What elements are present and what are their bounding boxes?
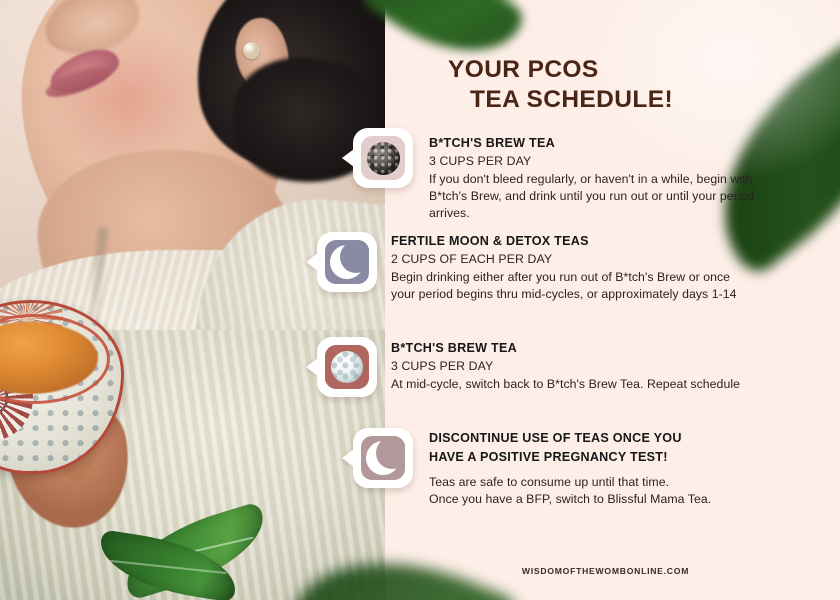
full-moon-icon <box>367 142 400 175</box>
step-heading-line-2: HAVE A POSITIVE PREGNANCY TEST! <box>429 449 779 465</box>
badge-inner <box>361 136 405 180</box>
step-body-secondary: Once you have a BFP, switch to Blissful … <box>429 491 779 508</box>
badge-inner <box>325 345 369 389</box>
badge-pointer-icon <box>306 253 318 271</box>
schedule-step: FERTILE MOON & DETOX TEAS 2 CUPS OF EACH… <box>391 233 751 303</box>
step-heading: B*TCH'S BREW TEA <box>429 135 781 151</box>
page-title: YOUR PCOS TEA SCHEDULE! <box>448 55 788 114</box>
badge-inner <box>361 436 405 480</box>
step-body: If you don't bleed regularly, or haven't… <box>429 171 781 222</box>
step-body: Teas are safe to consume up until that t… <box>429 474 779 491</box>
crescent-moon-icon <box>330 245 364 279</box>
pale-moon-icon <box>331 351 363 383</box>
step-badge[interactable] <box>353 128 413 188</box>
badge-inner <box>325 240 369 284</box>
step-dosage: 2 CUPS OF EACH PER DAY <box>391 252 751 268</box>
step-badge[interactable] <box>353 428 413 488</box>
hero-photo <box>0 0 385 600</box>
badge-pointer-icon <box>306 358 318 376</box>
schedule-step: B*TCH'S BREW TEA 3 CUPS PER DAY If you d… <box>429 135 781 222</box>
step-heading: B*TCH'S BREW TEA <box>391 340 743 356</box>
schedule-step: B*TCH'S BREW TEA 3 CUPS PER DAY At mid-c… <box>391 340 743 393</box>
crescent-moon-icon <box>366 441 400 475</box>
content-panel: YOUR PCOS TEA SCHEDULE! B*TCH'S BREW TEA… <box>385 0 840 600</box>
schedule-step: DISCONTINUE USE OF TEAS ONCE YOU HAVE A … <box>429 430 779 508</box>
step-dosage: 3 CUPS PER DAY <box>429 154 781 170</box>
step-badge[interactable] <box>317 337 377 397</box>
step-body: At mid-cycle, switch back to B*tch's Bre… <box>391 376 743 393</box>
step-body: Begin drinking either after you run out … <box>391 269 751 303</box>
pearl-earring-icon <box>243 42 260 59</box>
badge-pointer-icon <box>342 449 354 467</box>
pcos-tea-schedule-infographic: YOUR PCOS TEA SCHEDULE! B*TCH'S BREW TEA… <box>0 0 840 600</box>
step-badge[interactable] <box>317 232 377 292</box>
step-heading: FERTILE MOON & DETOX TEAS <box>391 233 751 249</box>
title-line-1: YOUR PCOS <box>448 56 599 83</box>
title-line-2: TEA SCHEDULE! <box>448 85 788 115</box>
step-dosage: 3 CUPS PER DAY <box>391 359 743 375</box>
badge-pointer-icon <box>342 149 354 167</box>
footer-website[interactable]: WISDOMOFTHEWOMBONLINE.COM <box>385 566 840 576</box>
step-heading-line-1: DISCONTINUE USE OF TEAS ONCE YOU <box>429 430 779 446</box>
